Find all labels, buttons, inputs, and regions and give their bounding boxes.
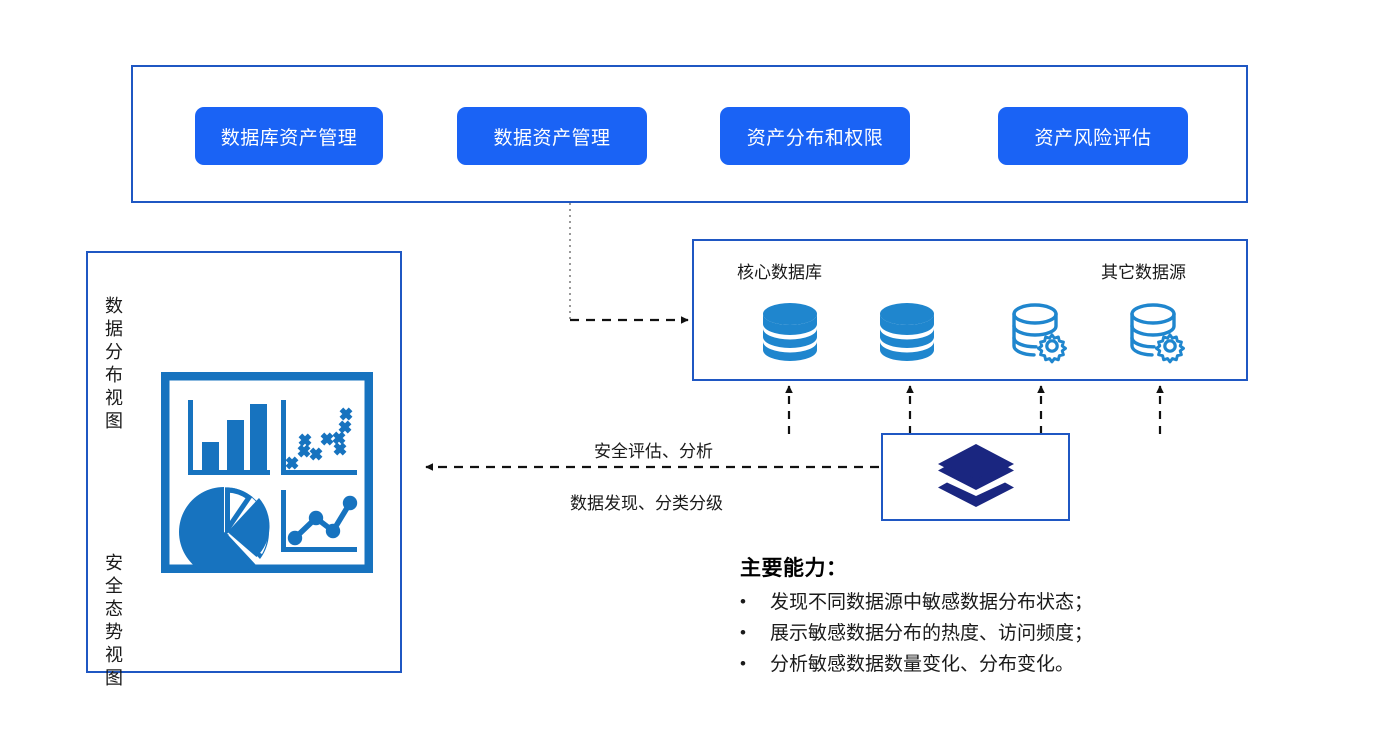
diagram-canvas: 数据库资产管理 数据资产管理 资产分布和权限 资产风险评估 核心数据库 其它数据… bbox=[0, 0, 1396, 736]
bullet-icon: • bbox=[740, 588, 770, 617]
database-filled-icon[interactable] bbox=[874, 301, 940, 365]
analytics-dashboard-icon[interactable] bbox=[161, 372, 373, 573]
data-distribution-view-label: 数据分布视图 bbox=[104, 296, 122, 434]
capability-list-item: • 分析敏感数据数量变化、分布变化。 bbox=[740, 650, 1210, 681]
main-capabilities-title: 主要能力： bbox=[740, 552, 1210, 582]
capability-list-item: • 发现不同数据源中敏感数据分布状态； bbox=[740, 588, 1210, 619]
database-gear-icon[interactable] bbox=[1125, 301, 1191, 365]
capability-pill-asset-risk-assessment[interactable]: 资产风险评估 bbox=[998, 107, 1188, 165]
security-posture-view-label: 安全态势视图 bbox=[104, 553, 122, 691]
layers-stack-icon[interactable] bbox=[935, 442, 1017, 514]
other-datasource-label: 其它数据源 bbox=[1101, 258, 1186, 283]
flow-label-security-assessment: 安全评估、分析 bbox=[594, 437, 713, 462]
capability-pill-data-asset-management[interactable]: 数据资产管理 bbox=[457, 107, 647, 165]
bullet-icon: • bbox=[740, 650, 770, 679]
core-database-label: 核心数据库 bbox=[737, 258, 822, 283]
capability-text: 展示敏感数据分布的热度、访问频度； bbox=[770, 619, 1093, 650]
bullet-icon: • bbox=[740, 619, 770, 648]
flow-label-data-discovery: 数据发现、分类分级 bbox=[570, 489, 723, 514]
capability-text: 分析敏感数据数量变化、分布变化。 bbox=[770, 650, 1074, 681]
capability-pill-asset-distribution-permission[interactable]: 资产分布和权限 bbox=[720, 107, 910, 165]
capability-pill-database-asset-management[interactable]: 数据库资产管理 bbox=[195, 107, 383, 165]
capability-text: 发现不同数据源中敏感数据分布状态； bbox=[770, 588, 1093, 619]
capability-list-item: • 展示敏感数据分布的热度、访问频度； bbox=[740, 619, 1210, 650]
main-capabilities-block: 主要能力： • 发现不同数据源中敏感数据分布状态； • 展示敏感数据分布的热度、… bbox=[740, 552, 1210, 680]
database-gear-icon[interactable] bbox=[1007, 301, 1073, 365]
database-filled-icon[interactable] bbox=[757, 301, 823, 365]
